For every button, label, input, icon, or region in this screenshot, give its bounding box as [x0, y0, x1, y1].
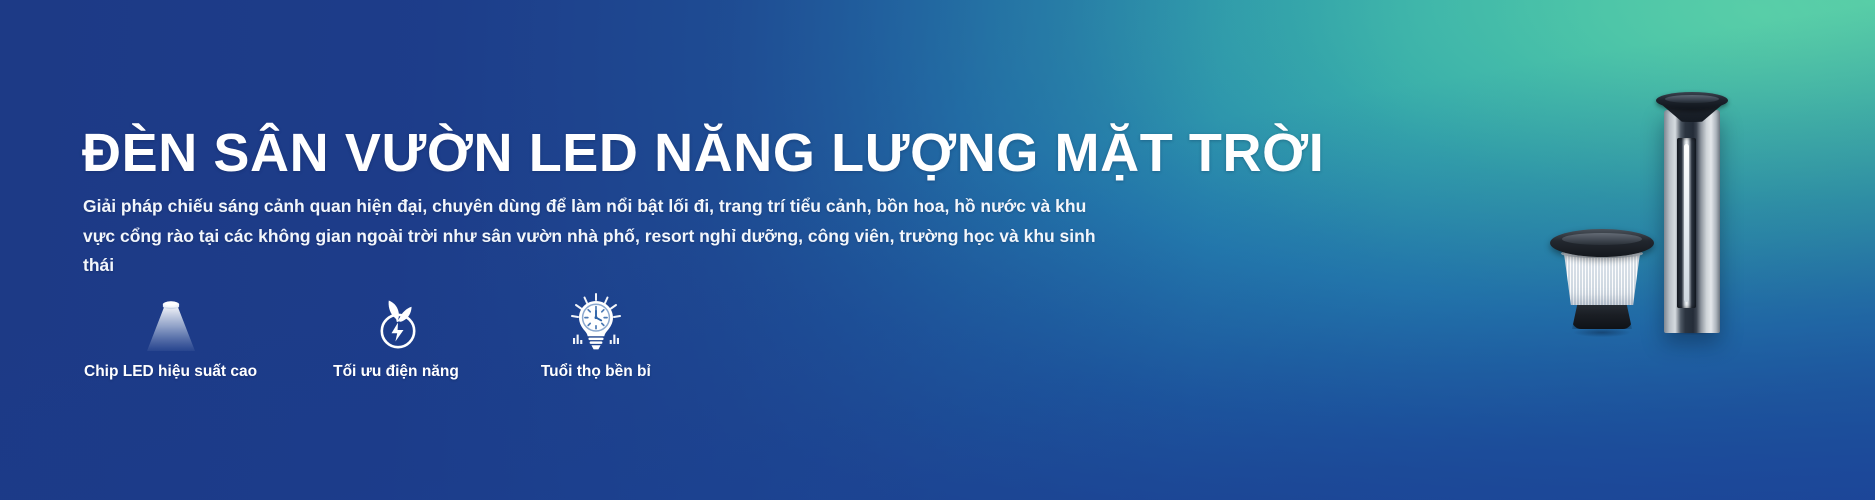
pillar-solar-panel	[1656, 92, 1728, 109]
lightbulb-clock-icon	[559, 292, 633, 354]
product-images	[1545, 0, 1875, 500]
feature-item-energy-optimization: Tối ưu điện năng	[333, 292, 459, 381]
hero-content: ĐÈN SÂN VƯỜN LED NĂNG LƯỢNG MẶT TRỜI Giả…	[82, 0, 1202, 500]
feature-item-long-lifespan: Tuổi thọ bền bỉ	[541, 292, 651, 381]
solar-bollard-lantern-image	[1550, 229, 1654, 333]
feature-item-chip-led: Chip LED hiệu suất cao	[84, 292, 257, 381]
solar-garden-light-hero-banner: ĐÈN SÂN VƯỜN LED NĂNG LƯỢNG MẶT TRỜI Giả…	[0, 0, 1875, 500]
lantern-solar-cap	[1550, 229, 1654, 257]
hero-subtitle: Giải pháp chiếu sáng cảnh quan hiện đại,…	[83, 192, 1111, 281]
feature-list: Chip LED hiệu suất cao Tối ưu điện năng	[84, 292, 651, 381]
led-spotlight-beam-icon	[134, 292, 208, 354]
feature-label: Tối ưu điện năng	[333, 363, 459, 381]
feature-label: Chip LED hiệu suất cao	[84, 363, 257, 381]
pillar-strip-glow	[1684, 144, 1689, 302]
page-title: ĐÈN SÂN VƯỜN LED NĂNG LƯỢNG MẶT TRỜI	[82, 124, 1324, 182]
feature-label: Tuổi thọ bền bỉ	[541, 363, 651, 381]
solar-pillar-light-image	[1658, 78, 1726, 333]
lantern-base	[1572, 301, 1632, 329]
leaf-energy-bolt-icon	[359, 292, 433, 354]
